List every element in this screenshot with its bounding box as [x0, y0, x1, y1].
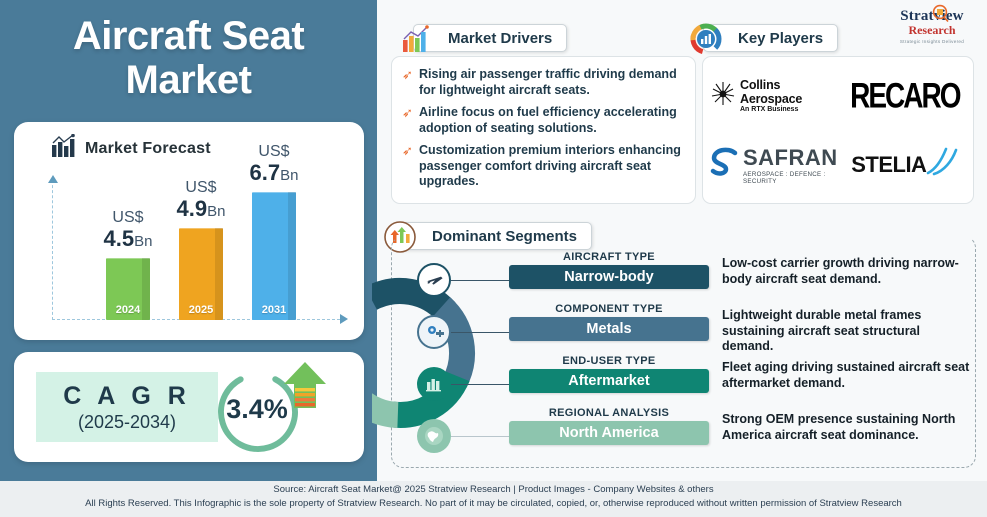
- driver-text: Airline focus on fuel efficiency acceler…: [419, 105, 687, 136]
- segment-description: Strong OEM presence sustaining North Ame…: [722, 412, 974, 443]
- bar-2031: US$ 6.7Bn 2031: [252, 192, 296, 320]
- footer: Source: Aircraft Seat Market@ 2025 Strat…: [0, 481, 987, 517]
- left-panel: Aircraft Seat Market Market Forecast: [0, 0, 377, 481]
- bar-year-2031: 2031: [252, 304, 296, 316]
- stratview-logo: Stratview Research Strategic Insights De…: [885, 8, 979, 52]
- logo-recaro: RECARO: [841, 61, 969, 130]
- driver-text: Rising air passenger traffic driving dem…: [419, 67, 687, 98]
- segment-row-regional-analysis: REGIONAL ANALYSIS North America Strong O…: [417, 407, 977, 455]
- bar-unit-2024: Bn: [134, 233, 152, 250]
- safran-name: SAFRAN: [743, 145, 838, 171]
- segment-block: REGIONAL ANALYSIS North America: [509, 407, 709, 445]
- segment-kicker: REGIONAL ANALYSIS: [509, 407, 709, 419]
- bar-chart-icon: [50, 134, 76, 163]
- segment-value: Narrow-body: [564, 269, 653, 285]
- bar-2025: US$ 4.9Bn 2025: [179, 228, 223, 320]
- segment-pill: Metals: [509, 317, 709, 341]
- bar-unit-2031: Bn: [280, 167, 298, 184]
- cagr-card: C A G R (2025-2034) 3.4%: [14, 352, 364, 462]
- bar-year-2025: 2025: [179, 304, 223, 316]
- key-players-label: Key Players: [738, 30, 823, 47]
- market-forecast-card: Market Forecast US$ 4.5Bn 2024: [14, 122, 364, 340]
- bar-value-2024: US$ 4.5Bn: [104, 209, 153, 252]
- growth-arrow-icon: [282, 360, 328, 423]
- cagr-chip: C A G R (2025-2034): [36, 372, 218, 442]
- bar-number-2025: 4.9: [177, 196, 208, 221]
- bar-2024: US$ 4.5Bn 2024: [106, 258, 150, 320]
- driver-item: ➶ Customization premium interiors enhanc…: [402, 143, 687, 190]
- segment-pill: Narrow-body: [509, 265, 709, 289]
- collins-sub: An RTX Business: [740, 106, 838, 113]
- segment-value: Aftermarket: [568, 373, 649, 389]
- globe-icon: [417, 419, 451, 453]
- infographic-page: Aircraft Seat Market Market Forecast: [0, 0, 987, 517]
- arrow-bullet-icon: ➶: [402, 67, 413, 98]
- segment-kicker: END-USER TYPE: [509, 355, 709, 367]
- recaro-name: RECARO: [850, 76, 959, 116]
- segment-description: Fleet aging driving sustained aircraft s…: [722, 360, 974, 391]
- safran-swirl-icon: [710, 146, 740, 183]
- segment-value: Metals: [586, 321, 631, 337]
- title-wrap: Aircraft Seat Market: [0, 0, 377, 102]
- forecast-bar-chart: US$ 4.5Bn 2024 US$ 4.9Bn 2025: [44, 180, 344, 330]
- collins-sunburst-icon: [710, 80, 736, 111]
- driver-item: ➶ Rising air passenger traffic driving d…: [402, 67, 687, 98]
- safran-sub: AEROSPACE : DEFENCE : SECURITY: [743, 171, 838, 185]
- stratview-tagline: Strategic Insights Delivered: [885, 39, 979, 44]
- market-forecast-title: Market Forecast: [85, 140, 211, 158]
- ring-chart-icon: [686, 19, 726, 59]
- segment-connector: [451, 436, 509, 437]
- segment-value: North America: [559, 425, 658, 441]
- segment-connector: [451, 384, 509, 385]
- logo-collins-aerospace: Collins Aerospace An RTX Business: [707, 61, 841, 130]
- bar-shaft-2024: 2024: [106, 258, 150, 320]
- currency-label-2025: US$: [177, 179, 226, 196]
- bar-number-2024: 4.5: [104, 226, 135, 251]
- stelia-name: STELIA: [851, 152, 926, 178]
- y-axis: [52, 180, 53, 320]
- bar-unit-2025: Bn: [207, 203, 225, 220]
- segment-rows: AIRCRAFT TYPE Narrow-body Low-cost carri…: [417, 251, 977, 459]
- segment-block: END-USER TYPE Aftermarket: [509, 355, 709, 393]
- bar-year-2024: 2024: [106, 304, 150, 316]
- segment-row-component-type: COMPONENT TYPE Metals Lightweight durabl…: [417, 303, 977, 351]
- colored-bar-chart-icon: [396, 19, 436, 59]
- segment-description: Low-cost carrier growth driving narrow-b…: [722, 256, 974, 287]
- arrow-bullet-icon: ➶: [402, 105, 413, 136]
- bar-top-2024: [105, 253, 154, 259]
- gear-puzzle-icon: [417, 315, 451, 349]
- segment-connector: [451, 332, 509, 333]
- footer-rights: All Rights Reserved. This Infographic is…: [0, 498, 987, 509]
- segment-connector: [451, 280, 509, 281]
- x-axis-arrow-icon: [340, 314, 348, 324]
- segment-description: Lightweight durable metal frames sustain…: [722, 308, 974, 355]
- arrow-bullet-icon: ➶: [402, 143, 413, 190]
- market-forecast-header: Market Forecast: [14, 122, 364, 163]
- currency-label-2031: US$: [250, 143, 299, 160]
- bar-shaft-2025: 2025: [179, 228, 223, 320]
- key-players-box: Collins Aerospace An RTX Business RECARO…: [702, 56, 974, 204]
- right-area: Market Drivers ➶ Rising air passenger tr…: [377, 0, 987, 481]
- segment-row-end-user-type: END-USER TYPE Aftermarket Fleet aging dr…: [417, 355, 977, 403]
- bar-value-2031: US$ 6.7Bn: [250, 143, 299, 186]
- segment-kicker: COMPONENT TYPE: [509, 303, 709, 315]
- bar-top-2031: [251, 187, 300, 193]
- segment-block: AIRCRAFT TYPE Narrow-body: [509, 251, 709, 289]
- segment-kicker: AIRCRAFT TYPE: [509, 251, 709, 263]
- segment-block: COMPONENT TYPE Metals: [509, 303, 709, 341]
- market-drivers-label: Market Drivers: [448, 30, 552, 47]
- segment-row-aircraft-type: AIRCRAFT TYPE Narrow-body Low-cost carri…: [417, 251, 977, 299]
- factory-icon: [417, 367, 451, 401]
- logo-stelia: STELIA: [841, 130, 969, 199]
- bar-value-2025: US$ 4.9Bn: [177, 179, 226, 222]
- market-drivers-box: ➶ Rising air passenger traffic driving d…: [391, 56, 696, 204]
- market-drivers-badge: Market Drivers: [413, 24, 567, 52]
- y-axis-arrow-icon: [48, 175, 58, 183]
- logo-safran: SAFRAN AEROSPACE : DEFENCE : SECURITY: [707, 130, 841, 199]
- currency-label-2024: US$: [104, 209, 153, 226]
- stelia-swoosh-icon: [926, 147, 958, 182]
- driver-text: Customization premium interiors enhancin…: [419, 143, 687, 190]
- collins-name: Collins Aerospace: [740, 78, 838, 106]
- segment-pill: North America: [509, 421, 709, 445]
- segment-pill: Aftermarket: [509, 369, 709, 393]
- dominant-segments-panel: AIRCRAFT TYPE Narrow-body Low-cost carri…: [391, 236, 976, 468]
- bar-top-2025: [178, 223, 227, 229]
- driver-item: ➶ Airline focus on fuel efficiency accel…: [402, 105, 687, 136]
- footer-source: Source: Aircraft Seat Market@ 2025 Strat…: [0, 484, 987, 495]
- key-players-badge: Key Players: [703, 24, 838, 52]
- cagr-period: (2025-2034): [78, 412, 176, 433]
- airplane-icon: [417, 263, 451, 297]
- bar-number-2031: 6.7: [250, 160, 281, 185]
- stratview-mark-icon: [931, 4, 949, 27]
- page-title: Aircraft Seat Market: [18, 14, 359, 102]
- bar-shaft-2031: 2031: [252, 192, 296, 320]
- cagr-label: C A G R: [63, 382, 191, 411]
